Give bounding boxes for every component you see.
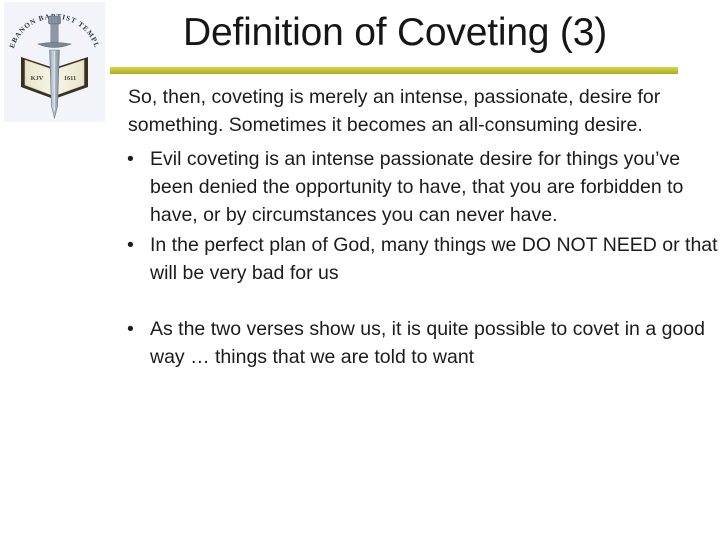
- church-logo: LEBANON BAPTIST TEMPLE KJV 1611: [4, 2, 105, 122]
- intro-paragraph: So, then, coveting is merely an intense,…: [110, 83, 706, 139]
- slide-canvas: LEBANON BAPTIST TEMPLE KJV 1611: [0, 0, 720, 539]
- list-item-text: As the two verses show us, it is quite p…: [150, 318, 705, 368]
- book-left-label: KJV: [31, 75, 44, 82]
- title-underline-rule: [110, 67, 678, 74]
- page-title: Definition of Coveting (3): [183, 13, 607, 54]
- bullet-marker-icon: •: [127, 145, 134, 173]
- list-item-text: Evil coveting is an intense passionate d…: [150, 148, 683, 226]
- bullet-marker-icon: •: [127, 315, 134, 343]
- list-item: • Evil coveting is an intense passionate…: [110, 145, 720, 229]
- bullet-marker-icon: •: [127, 231, 134, 259]
- book-right-label: 1611: [64, 75, 76, 82]
- logo-artwork: LEBANON BAPTIST TEMPLE KJV 1611: [4, 2, 105, 122]
- bullet-list: • Evil coveting is an intense passionate…: [110, 145, 710, 371]
- slide-body: So, then, coveting is merely an intense,…: [110, 83, 710, 373]
- list-item: • As the two verses show us, it is quite…: [110, 315, 720, 371]
- list-item-text: In the perfect plan of God, many things …: [150, 234, 718, 284]
- list-item: • In the perfect plan of God, many thing…: [110, 231, 720, 287]
- title-area: Definition of Coveting (3): [110, 4, 680, 62]
